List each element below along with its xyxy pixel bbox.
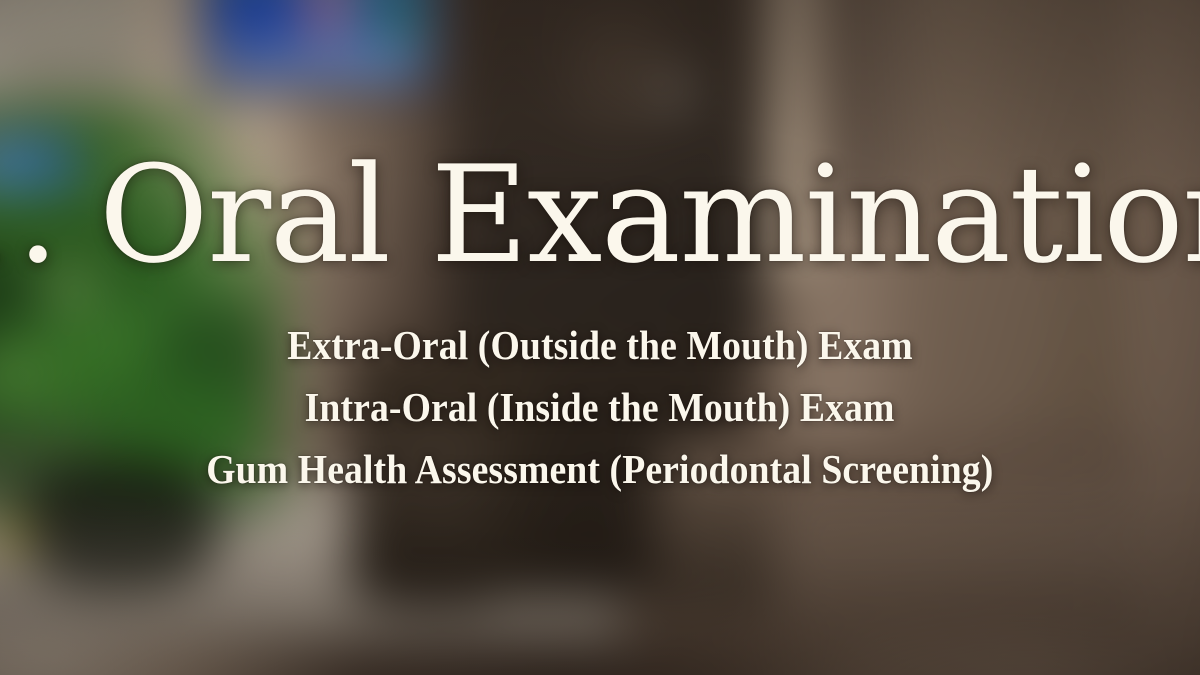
slide-canvas: 1. Oral Examination Extra-Oral (Outside … bbox=[0, 0, 1200, 675]
slide-bullet-gum-health-assessment: Gum Health Assessment (Periodontal Scree… bbox=[206, 438, 993, 500]
text-overlay: 1. Oral Examination Extra-Oral (Outside … bbox=[0, 0, 1200, 675]
slide-bullet-intra-oral-exam: Intra-Oral (Inside the Mouth) Exam bbox=[305, 376, 895, 438]
slide-title: 1. Oral Examination bbox=[0, 148, 1200, 282]
slide-bullet-list: Extra-Oral (Outside the Mouth) Exam Intr… bbox=[172, 314, 1028, 500]
slide-bullet-extra-oral-exam: Extra-Oral (Outside the Mouth) Exam bbox=[287, 314, 913, 376]
